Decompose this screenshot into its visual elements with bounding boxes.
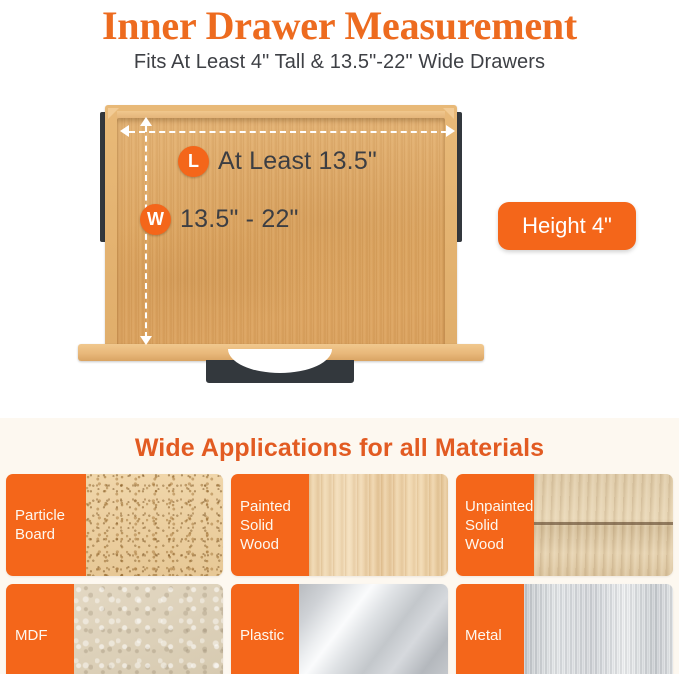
particle-board-texture [86, 474, 223, 576]
plastic-texture [299, 584, 448, 674]
arrow-down-icon [140, 336, 152, 345]
materials-grid: Particle Board Painted Solid Wood Unpain… [6, 474, 673, 674]
material-card-painted-solid-wood: Painted Solid Wood [231, 474, 448, 576]
unpainted-solid-wood-texture [534, 474, 673, 576]
length-measurement: L At Least 13.5" [178, 146, 377, 177]
drawer-corner-right [443, 108, 454, 119]
material-label: Unpainted Solid Wood [456, 474, 534, 576]
product-infographic: Inner Drawer Measurement Fits At Least 4… [0, 0, 679, 674]
material-card-mdf: MDF [6, 584, 223, 674]
material-label: Metal [456, 584, 524, 674]
width-badge-icon: W [140, 204, 171, 235]
width-measurement-label: 13.5" - 22" [180, 205, 299, 234]
material-label: Particle Board [6, 474, 86, 576]
length-dimension-line [129, 131, 447, 135]
length-measurement-label: At Least 13.5" [218, 147, 377, 176]
painted-solid-wood-texture [309, 474, 448, 576]
hero-section: Inner Drawer Measurement Fits At Least 4… [0, 0, 679, 418]
page-subtitle: Fits At Least 4" Tall & 13.5"-22" Wide D… [0, 49, 679, 75]
material-label: Painted Solid Wood [231, 474, 309, 576]
length-badge-icon: L [178, 146, 209, 177]
material-card-plastic: Plastic [231, 584, 448, 674]
drawer-handle [206, 360, 354, 383]
drawer-illustration: L At Least 13.5" W 13.5" - 22" [60, 96, 490, 386]
material-card-particle-board: Particle Board [6, 474, 223, 576]
arrow-left-icon [120, 125, 129, 137]
arrow-right-icon [446, 125, 455, 137]
mdf-texture [74, 584, 223, 674]
material-card-metal: Metal [456, 584, 673, 674]
arrow-up-icon [140, 117, 152, 126]
material-label: MDF [6, 584, 74, 674]
material-label: Plastic [231, 584, 299, 674]
page-title: Inner Drawer Measurement [0, 0, 679, 48]
materials-section-title: Wide Applications for all Materials [0, 434, 679, 463]
materials-section: Wide Applications for all Materials Part… [0, 418, 679, 674]
drawer-handle-cutout [228, 349, 332, 373]
metal-texture [524, 584, 673, 674]
height-badge: Height 4" [498, 202, 636, 250]
width-measurement: W 13.5" - 22" [140, 204, 299, 235]
material-card-unpainted-solid-wood: Unpainted Solid Wood [456, 474, 673, 576]
